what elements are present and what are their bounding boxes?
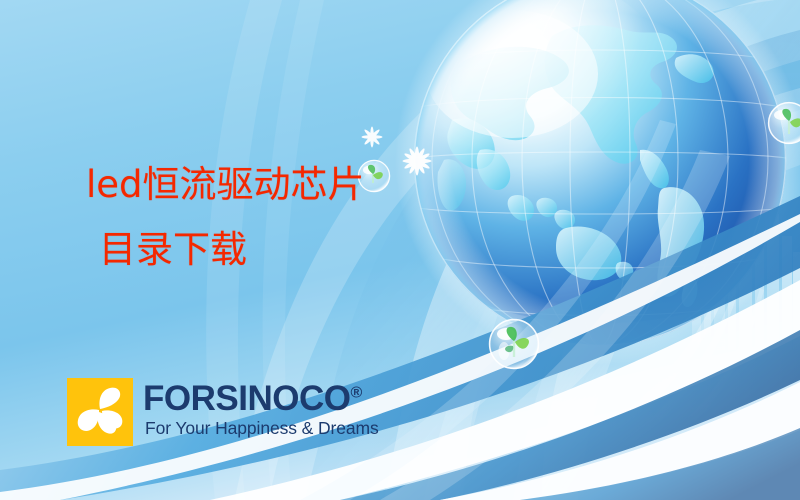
headline-line-2: 目录下载 (99, 231, 365, 269)
logo-wordmark-text: FORSINOCO (143, 379, 350, 418)
headline-line-1: led恒流驱动芯片 (86, 163, 365, 206)
bubble-sprout-large (489, 319, 539, 369)
forsinoco-pinwheel-flower-icon (67, 378, 133, 446)
registered-trademark-icon: ® (350, 384, 362, 401)
logo-tagline: For Your Happiness & Dreams (145, 418, 379, 438)
pinwheel-petals-svg (67, 378, 133, 446)
promo-headline: led恒流驱动芯片 目录下载 (86, 166, 365, 268)
logo-wordmark: FORSINOCO® (143, 381, 379, 417)
sparkle-starburst-small (362, 127, 383, 148)
logo-text-block: FORSINOCO® For Your Happiness & Dreams (143, 378, 379, 438)
promo-banner: led恒流驱动芯片 目录下载 FORSINOCO® For Your Happi… (0, 0, 800, 500)
forsinoco-logo[interactable]: FORSINOCO® For Your Happiness & Dreams (67, 378, 379, 446)
